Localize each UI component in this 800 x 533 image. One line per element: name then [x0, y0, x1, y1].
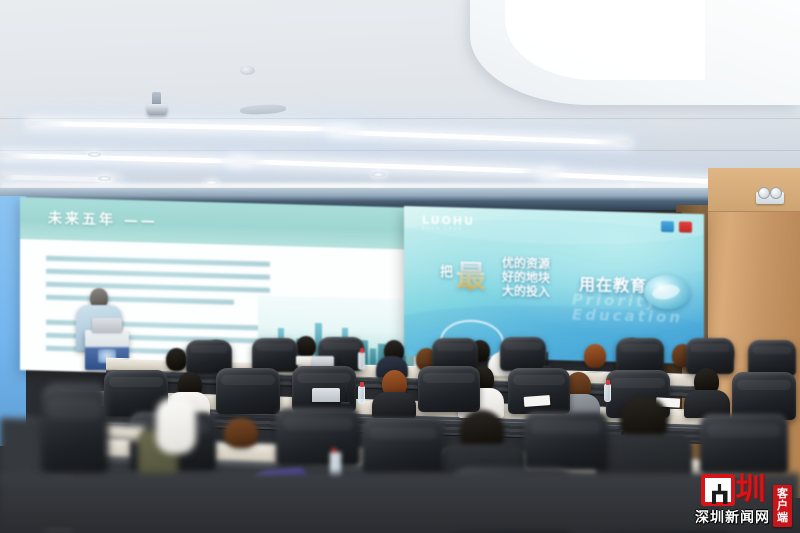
ceiling-led-strip — [330, 130, 630, 146]
chair[interactable] — [616, 338, 664, 374]
emblem-blue-icon — [661, 221, 674, 232]
emergency-light-icon — [756, 192, 784, 204]
ceiling-led-strip — [0, 153, 250, 164]
watermark-seal: 客户端 — [773, 485, 792, 527]
chair[interactable] — [276, 408, 360, 466]
poster-english-line: Education — [572, 308, 683, 326]
watermark-site-name: 深圳新闻网 — [695, 507, 770, 527]
chair[interactable] — [700, 414, 788, 474]
ceiling-seam — [0, 150, 800, 151]
chair[interactable] — [252, 338, 298, 372]
person-head — [584, 344, 606, 368]
poster-stack-lines: 优的资源 好的地块 大的投入 — [502, 256, 550, 299]
chair[interactable] — [508, 368, 570, 414]
chair[interactable] — [524, 412, 608, 470]
poster-stack-line: 优的资源 — [502, 256, 550, 271]
person-head — [296, 336, 316, 357]
water-bottle — [358, 352, 365, 370]
chair[interactable] — [42, 384, 108, 480]
ceiling-seam — [0, 118, 800, 119]
microphone-base — [341, 402, 350, 405]
ceiling-downlight — [88, 152, 101, 157]
microphone — [345, 382, 347, 404]
water-bottle — [358, 386, 365, 404]
wall-wood-upper — [708, 168, 800, 212]
chair[interactable] — [748, 340, 796, 376]
poster-stack-line: 好的地块 — [502, 270, 550, 285]
watermark-brand: 圳 深圳新闻网 — [695, 474, 770, 527]
laptop — [312, 388, 340, 402]
ceiling-led-strip — [230, 159, 560, 175]
watermark-logo-icon — [701, 474, 735, 506]
chair[interactable] — [500, 337, 546, 371]
person-head — [166, 348, 187, 371]
water-bottle — [604, 384, 611, 402]
person-torso — [372, 392, 416, 418]
ceiling-downlight — [372, 172, 385, 177]
chair[interactable] — [732, 372, 796, 420]
person-head — [224, 418, 258, 448]
floor — [0, 473, 800, 533]
emblem-red-icon — [679, 221, 692, 232]
ceiling-led-strip — [28, 121, 358, 132]
projector — [147, 104, 167, 115]
podium-laptop — [92, 318, 122, 332]
chair[interactable] — [418, 366, 480, 412]
poster-big-char: 最 — [456, 251, 484, 296]
ceiling-downlight — [98, 176, 111, 181]
ceiling-speaker — [240, 66, 255, 75]
luohu-logo-sub: ROCK LAKE — [422, 225, 463, 231]
poster-stack-line: 大的投入 — [502, 284, 550, 299]
document-paper — [524, 395, 551, 407]
conference-room-photo: 未来五年 —— — [0, 0, 800, 533]
chair[interactable] — [216, 368, 280, 414]
chair[interactable] — [362, 418, 444, 474]
watermark-logo: 圳 — [701, 474, 765, 506]
ceiling-air-vent — [240, 104, 286, 115]
slide-title: 未来五年 —— — [48, 208, 158, 231]
watermark-logo-char: 圳 — [736, 475, 765, 505]
person-arm — [156, 398, 196, 454]
emblem-group — [661, 221, 692, 233]
globe-icon — [644, 274, 690, 309]
watermark: 圳 深圳新闻网 客户端 — [695, 474, 792, 527]
poster-kicker: 把 — [440, 261, 453, 280]
ceiling — [0, 0, 800, 205]
